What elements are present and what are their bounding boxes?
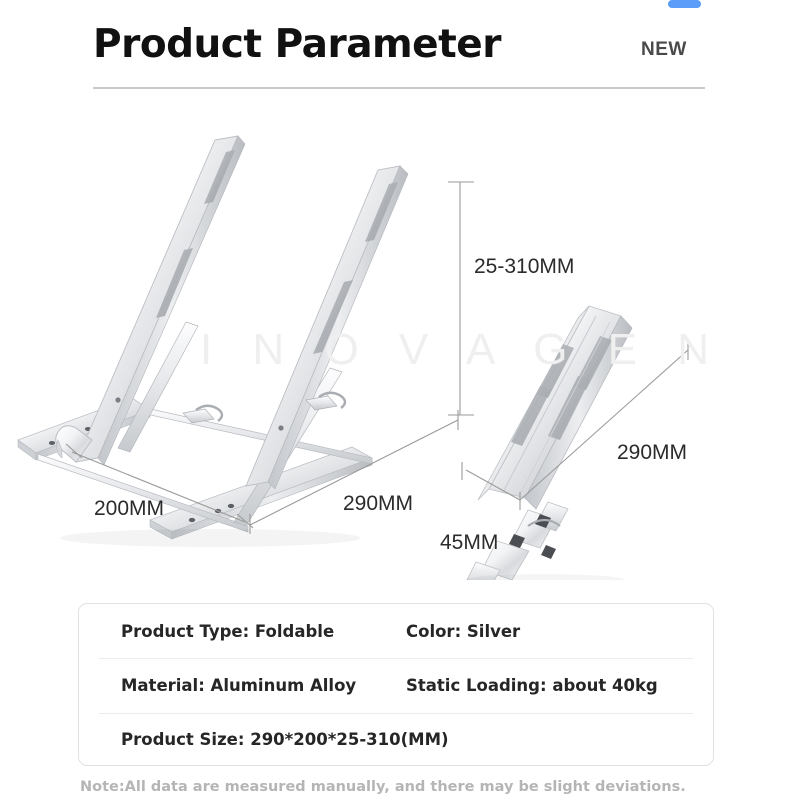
stand-open-view <box>18 136 408 547</box>
dimension-label-folded-length: 290MM <box>617 441 687 465</box>
product-parameter-page: Product Parameter NEW <box>0 0 800 800</box>
spec-static-loading: Static Loading: about 40kg <box>406 676 713 695</box>
spec-product-type: Product Type: Foldable <box>121 622 406 641</box>
specification-card: Product Type: Foldable Color: Silver Mat… <box>78 603 714 766</box>
dimension-label-depth: 200MM <box>94 497 164 521</box>
dimension-label-height: 25-310MM <box>474 255 574 279</box>
dimension-label-width: 290MM <box>343 492 413 516</box>
new-badge: NEW <box>641 39 687 61</box>
header-divider <box>93 87 705 89</box>
spec-color: Color: Silver <box>406 622 713 641</box>
spec-material: Material: Aluminum Alloy <box>121 676 406 695</box>
measurement-note: Note:All data are measured manually, and… <box>80 779 686 795</box>
top-arm-front <box>246 166 408 489</box>
dimension-label-folded-thickness: 45MM <box>440 531 498 555</box>
table-row: Product Type: Foldable Color: Silver <box>79 604 713 658</box>
table-row: Material: Aluminum Alloy Static Loading:… <box>79 658 713 712</box>
page-title: Product Parameter <box>93 22 501 67</box>
table-row: Product Size: 290*200*25-310(MM) <box>79 713 713 767</box>
spec-product-size: Product Size: 290*200*25-310(MM) <box>121 730 406 749</box>
top-accent-pill <box>668 0 701 8</box>
